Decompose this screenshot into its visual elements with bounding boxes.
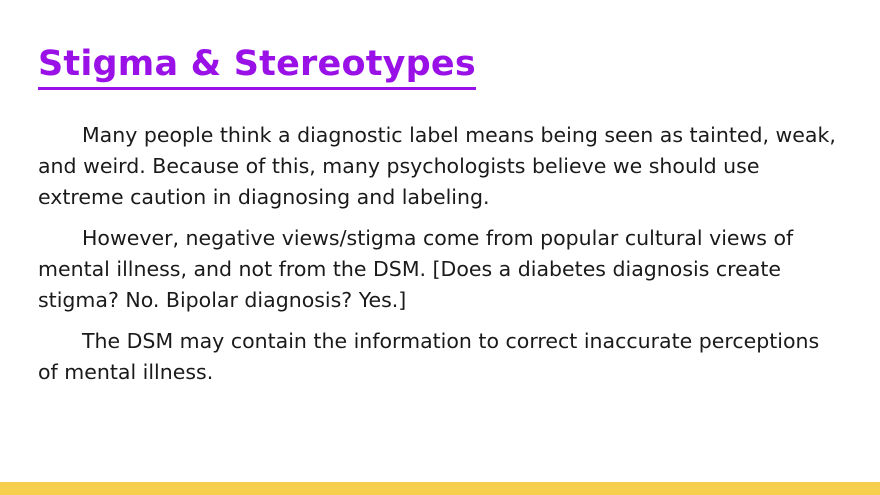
body-paragraph: However, negative views/stigma come from… <box>38 223 842 316</box>
page-title: Stigma & Stereotypes <box>38 42 476 90</box>
body-paragraph: Many people think a diagnostic label mea… <box>38 120 842 213</box>
slide-body: Many people think a diagnostic label mea… <box>38 120 842 388</box>
slide-canvas: Stigma & Stereotypes Many people think a… <box>0 0 880 495</box>
accent-bar <box>0 482 880 495</box>
page-title-text: Stigma & Stereotypes <box>38 42 476 90</box>
body-paragraph: The DSM may contain the information to c… <box>38 326 842 388</box>
